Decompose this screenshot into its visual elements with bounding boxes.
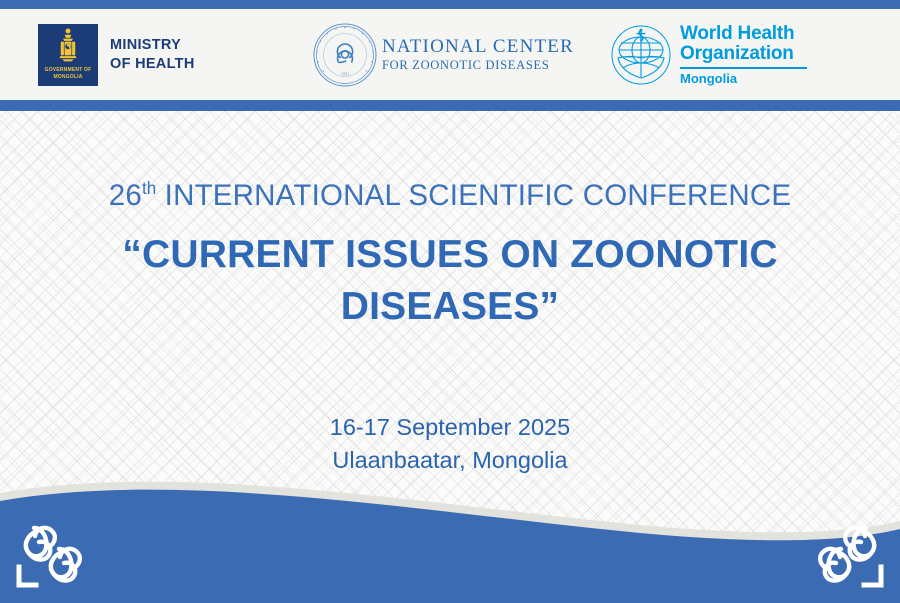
- who-emblem-icon: [610, 24, 672, 86]
- nczd-label: NATIONAL CENTER FOR ZOONOTIC DISEASES: [382, 37, 574, 72]
- ministry-of-health-logo: GOVERNMENT OF MONGOLIA MINISTRY OF HEALT…: [0, 9, 300, 100]
- who-label-line-3: Mongolia: [680, 72, 807, 86]
- nczd-seal-icon: 1951: [312, 22, 378, 88]
- conference-number: 26: [109, 179, 142, 212]
- bottom-wave-decoration: [0, 453, 900, 603]
- who-label-line-1: World Health: [680, 24, 807, 44]
- conference-heading: 26th INTERNATIONAL SCIENTIFIC CONFERENCE: [0, 171, 900, 214]
- nczd-label-line-2: FOR ZOONOTIC DISEASES: [382, 59, 574, 72]
- ministry-label-line-1: MINISTRY: [110, 36, 195, 55]
- conference-dates: 16-17 September 2025: [0, 411, 900, 444]
- top-accent-bar: [0, 0, 900, 9]
- conference-title-slide: GOVERNMENT OF MONGOLIA MINISTRY OF HEALT…: [0, 0, 900, 603]
- who-label-line-2: Organization: [680, 44, 807, 64]
- conference-ordinal-suffix: th: [142, 179, 156, 198]
- who-mongolia-logo: World Health Organization Mongolia: [600, 9, 900, 100]
- ministry-label-line-2: OF HEALTH: [110, 55, 195, 74]
- mongolian-knot-ornament-right: [806, 519, 890, 595]
- mongolian-knot-ornament-left: [10, 519, 94, 595]
- title-block: 26th INTERNATIONAL SCIENTIFIC CONFERENCE…: [0, 171, 900, 333]
- mongolia-state-emblem-icon: GOVERNMENT OF MONGOLIA: [38, 24, 98, 86]
- nczd-label-line-1: NATIONAL CENTER: [382, 37, 574, 57]
- conference-heading-text: INTERNATIONAL SCIENTIFIC CONFERENCE: [165, 179, 792, 212]
- conference-theme: “CURRENT ISSUES ON ZOONOTIC DISEASES”: [0, 229, 900, 333]
- header-divider-bar: [0, 100, 900, 111]
- who-underline-rule: [680, 67, 807, 69]
- emblem-caption-line-1: GOVERNMENT OF: [45, 67, 92, 74]
- seal-year: 1951: [341, 71, 349, 76]
- national-center-zoonotic-diseases-logo: 1951 NATIONAL CENTER FOR ZOONOTIC DISEAS…: [300, 9, 600, 100]
- header-logo-band: GOVERNMENT OF MONGOLIA MINISTRY OF HEALT…: [0, 9, 900, 100]
- who-label: World Health Organization Mongolia: [680, 24, 807, 86]
- emblem-caption-line-2: MONGOLIA: [53, 74, 82, 81]
- ministry-of-health-label: MINISTRY OF HEALTH: [110, 36, 195, 74]
